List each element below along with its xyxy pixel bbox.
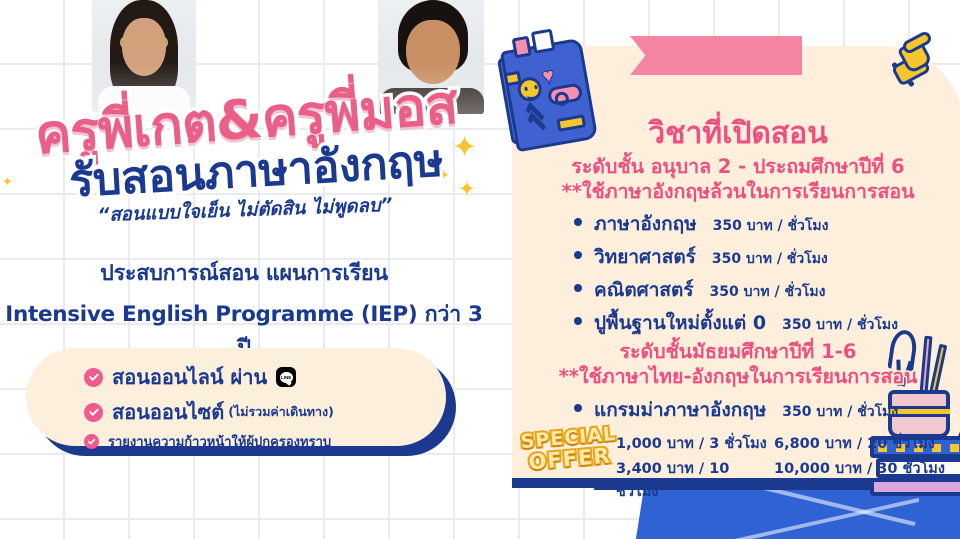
course-row: ปูพื้นฐานใหม่ตั้งแต่ 0 350 บาท / ชั่วโมง <box>574 308 898 338</box>
check-icon <box>84 403 103 422</box>
bullet-icon <box>574 317 582 325</box>
course-row: แกรมม่าภาษาอังกฤษ 350 บาท / ชั่วโมง <box>574 395 898 425</box>
special-offer-badge: SPECIAL OFFER <box>520 425 618 481</box>
poster-canvas: ♥ วิชาที่เปิดสอน ระดับชั้น อนุบาล 2 - ปร… <box>0 0 960 539</box>
feature-row: สอนออนไซต์ (ไม่รวมค่าเดินทาง) <box>84 396 446 428</box>
feature-label: สอนออนไลน์ ผ่าน <box>112 361 267 393</box>
bullet-icon <box>574 404 582 412</box>
course-price: 350 บาท / ชั่วโมง <box>712 248 828 270</box>
main-title-block: ครูพี่เกต&ครูพี่มอส รับสอนภาษาอังกฤษ <box>0 72 500 232</box>
line-badge-text: LINE <box>280 372 293 383</box>
course-name: วิทยาศาสตร์ <box>594 242 696 272</box>
experience-line-1: ประสบการณ์สอน แผนการเรียน <box>0 256 488 290</box>
offer-price-left: 1,000 บาท / 3 ชั่วโมง <box>616 432 774 455</box>
features-card: สอนออนไลน์ ผ่าน LINE สอนออนไซต์ (ไม่รวมค… <box>26 348 446 446</box>
course-row: คณิตศาสตร์ 350 บาท / ชั่วโมง <box>574 275 825 305</box>
offer-price-right: 6,800 บาท / 20 ชั่วโมง <box>774 432 935 455</box>
course-name: ปูพื้นฐานใหม่ตั้งแต่ 0 <box>594 308 766 338</box>
right-panel-content: วิชาที่เปิดสอน ระดับชั้น อนุบาล 2 - ประถ… <box>512 46 960 478</box>
course-price: 350 บาท / ชั่วโมง <box>710 281 826 303</box>
check-icon <box>84 368 103 387</box>
course-row: ภาษาอังกฤษ 350 บาท / ชั่วโมง <box>574 209 829 239</box>
course-price: 350 บาท / ชั่วโมง <box>782 314 898 336</box>
course-price: 350 บาท / ชั่วโมง <box>713 215 829 237</box>
feature-row: สอนออนไลน์ ผ่าน LINE <box>84 361 446 393</box>
level2-note: **ใช้ภาษาไทย-อังกฤษในการเรียนการสอน <box>512 361 960 392</box>
bullet-icon <box>574 284 582 292</box>
feature-label: รายงานความก้าวหน้าให้ผู้ปกครองทราบ <box>108 431 331 452</box>
course-name: แกรมม่าภาษาอังกฤษ <box>594 395 766 425</box>
feature-row: รายงานความก้าวหน้าให้ผู้ปกครองทราบ <box>84 431 446 452</box>
line-icon[interactable]: LINE <box>276 367 296 387</box>
level1-note: **ใช้ภาษาอังกฤษล้วนในการเรียนการสอน <box>512 176 960 207</box>
courses-heading: วิชาที่เปิดสอน <box>512 110 960 157</box>
offer-line2: OFFER <box>522 445 617 474</box>
offer-row: 3,400 บาท / 10 ชั่วโมง 10,000 บาท / 30 ช… <box>616 457 945 503</box>
bullet-icon <box>574 218 582 226</box>
offer-price-left: 3,400 บาท / 10 ชั่วโมง <box>616 457 774 503</box>
course-row: วิทยาศาสตร์ 350 บาท / ชั่วโมง <box>574 242 828 272</box>
offer-price-right: 10,000 บาท / 30 ชั่วโมง <box>774 457 945 503</box>
feature-sublabel: (ไม่รวมค่าเดินทาง) <box>228 402 334 422</box>
course-name: ภาษาอังกฤษ <box>594 209 697 239</box>
course-name: คณิตศาสตร์ <box>594 275 694 305</box>
course-price: 350 บาท / ชั่วโมง <box>782 401 898 423</box>
bullet-icon <box>574 251 582 259</box>
offer-row: 1,000 บาท / 3 ชั่วโมง 6,800 บาท / 20 ชั่… <box>616 432 935 455</box>
feature-label: สอนออนไซต์ <box>112 396 224 428</box>
check-icon <box>84 434 99 449</box>
